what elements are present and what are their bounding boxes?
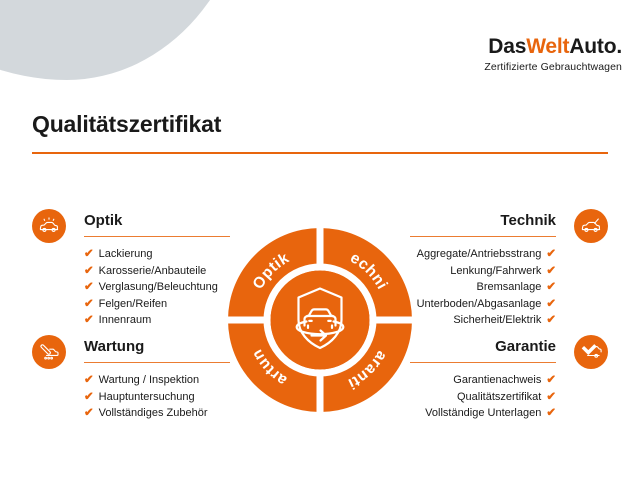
page-title-divider [32,152,608,154]
section-optik-title: Optik [84,212,122,229]
check-icon: ✔ [84,314,94,326]
car-shine-icon [32,209,66,243]
car-open-hood-icon [574,209,608,243]
list-item-label: Qualitätszertifikat [457,391,541,403]
list-item-label: Vollständige Unterlagen [425,407,541,419]
check-icon: ✔ [546,391,556,403]
list-item-label: Garantienachweis [453,374,541,386]
category-wheel: Optik Technik Wartung Garantie [228,228,412,412]
list-item: ✔Karosserie/Anbauteile [84,263,218,280]
section-wartung-list: ✔Wartung / Inspektion ✔Hauptuntersuchung… [84,372,208,422]
list-item-label: Lackierung [99,248,153,260]
list-item: Garantienachweis✔ [425,372,556,389]
check-icon: ✔ [546,248,556,260]
section-wartung-title: Wartung [84,338,144,355]
list-item-label: Vollständiges Zubehör [99,407,208,419]
check-icon: ✔ [84,248,94,260]
list-item: Vollständige Unterlagen✔ [425,405,556,422]
list-item: Unterboden/Abgasanlage✔ [417,296,556,313]
list-item: ✔Wartung / Inspektion [84,372,208,389]
list-item-label: Hauptuntersuchung [99,391,195,403]
section-wartung-divider [84,362,230,363]
check-icon: ✔ [84,265,94,277]
section-garantie-list: Garantienachweis✔ Qualitätszertifikat✔ V… [425,372,556,422]
brand-logo-suffix: Auto. [569,35,622,58]
list-item-label: Aggregate/Antriebsstrang [417,248,542,260]
list-item-label: Verglasung/Beleuchtung [99,281,218,293]
list-item: ✔Innenraum [84,312,218,329]
section-technik-divider [410,236,556,237]
list-item-label: Bremsanlage [477,281,542,293]
check-icon: ✔ [84,298,94,310]
brand-tagline: Zertifizierte Gebrauchtwagen [484,62,622,73]
list-item: ✔Verglasung/Beleuchtung [84,279,218,296]
certificate-page: DasWeltAuto. Zertifizierte Gebrauchtwage… [0,0,640,480]
brand-logo-wordmark: DasWeltAuto. [484,36,622,57]
check-icon: ✔ [84,281,94,293]
list-item-label: Karosserie/Anbauteile [99,265,207,277]
check-icon: ✔ [546,298,556,310]
decorative-grey-shape [0,0,250,80]
section-garantie-divider [410,362,556,363]
check-icon: ✔ [546,374,556,386]
list-item: Aggregate/Antriebsstrang✔ [417,246,556,263]
list-item: Lenkung/Fahrwerk✔ [417,263,556,280]
check-icon: ✔ [546,265,556,277]
check-icon: ✔ [546,407,556,419]
section-optik-list: ✔Lackierung ✔Karosserie/Anbauteile ✔Verg… [84,246,218,329]
check-icon: ✔ [546,281,556,293]
section-garantie-title: Garantie [495,338,556,355]
section-technik-list: Aggregate/Antriebsstrang✔ Lenkung/Fahrwe… [417,246,556,329]
page-title: Qualitätszertifikat [32,111,221,138]
list-item-label: Sicherheit/Elektrik [453,314,541,326]
car-check-icon [574,335,608,369]
section-technik-title: Technik [500,212,556,229]
list-item-label: Felgen/Reifen [99,298,168,310]
list-item-label: Lenkung/Fahrwerk [450,265,541,277]
check-icon: ✔ [84,374,94,386]
list-item: ✔Lackierung [84,246,218,263]
section-optik-divider [84,236,230,237]
brand-logo-highlight: Welt [526,35,569,58]
list-item-label: Innenraum [99,314,152,326]
list-item: Sicherheit/Elektrik✔ [417,312,556,329]
brand-logo: DasWeltAuto. Zertifizierte Gebrauchtwage… [484,36,622,73]
list-item-label: Unterboden/Abgasanlage [417,298,542,310]
check-icon: ✔ [546,314,556,326]
list-item: Qualitätszertifikat✔ [425,389,556,406]
wrench-car-icon [32,335,66,369]
list-item: ✔Felgen/Reifen [84,296,218,313]
brand-logo-prefix: Das [488,35,526,58]
list-item: Bremsanlage✔ [417,279,556,296]
wheel-hub [271,271,370,370]
check-icon: ✔ [84,391,94,403]
check-icon: ✔ [84,407,94,419]
list-item: ✔Vollständiges Zubehör [84,405,208,422]
list-item-label: Wartung / Inspektion [99,374,199,386]
list-item: ✔Hauptuntersuchung [84,389,208,406]
